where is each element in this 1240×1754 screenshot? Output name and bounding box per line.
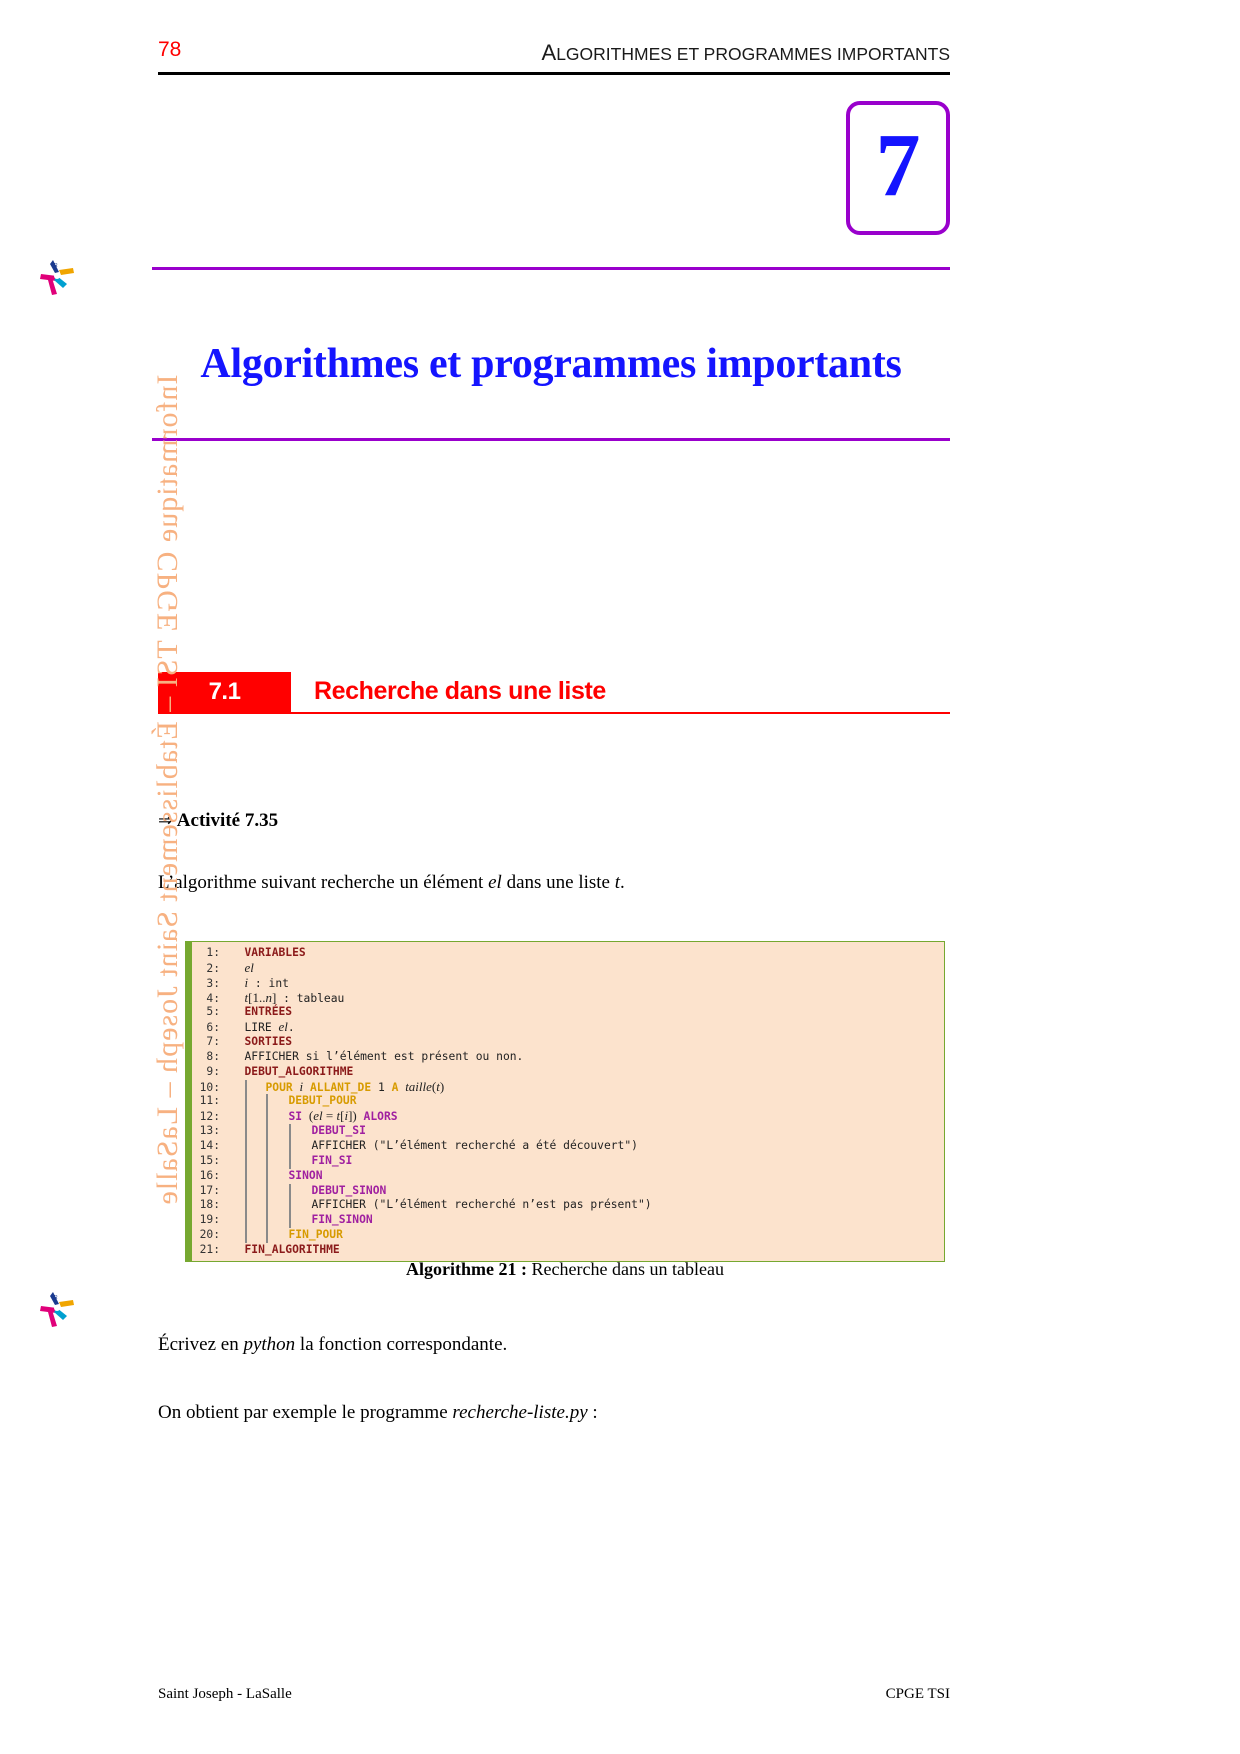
- obtient-text-2: :: [588, 1402, 598, 1423]
- code-line: 11:DEBUT_POUR: [186, 1094, 944, 1109]
- code-keyword: FIN_SI: [312, 1154, 353, 1167]
- code-text: el: [245, 960, 254, 975]
- page-header: 78 ALGORITHMES ET PROGRAMMES IMPORTANTS: [158, 38, 950, 74]
- code-line: 10:POUR i ALLANT_DE 1 A taille(t)POUR i …: [186, 1080, 944, 1095]
- running-header-rest: LGORITHMES ET PROGRAMMES IMPORTANTS: [556, 44, 950, 64]
- code-line: 16:SINON: [186, 1169, 944, 1184]
- code-line: 17:DEBUT_SINON: [186, 1184, 944, 1199]
- code-line: 5:ENTRÉES: [186, 1005, 944, 1020]
- obtient-filename: recherche-liste.py: [452, 1402, 587, 1423]
- algorithm-code-block: 1:VARIABLES 2:el 3:i : inti : int 4:t[1.…: [185, 941, 945, 1262]
- code-keyword: DEBUT_ALGORITHME: [245, 1065, 354, 1078]
- running-header-initial: A: [542, 40, 557, 65]
- chapter-number-box: 7: [846, 101, 950, 235]
- code-line: 18:AFFICHER ("L’élément recherché n’est …: [186, 1198, 944, 1213]
- code-line: 9:DEBUT_ALGORITHME: [186, 1065, 944, 1080]
- code-line: 21:FIN_ALGORITHME: [186, 1243, 944, 1258]
- code-line: 8:AFFICHER si l’élément est présent ou n…: [186, 1050, 944, 1065]
- code-line: 2:el: [186, 961, 944, 976]
- page-number: 78: [158, 38, 181, 62]
- code-line: 6:LIRE el.LIRE el.: [186, 1020, 944, 1035]
- code-keyword: FIN_SINON: [312, 1213, 373, 1226]
- code-line: 14:AFFICHER ("L’élément recherché a été …: [186, 1139, 944, 1154]
- code-text: AFFICHER ("L’élément recherché a été déc…: [312, 1139, 638, 1152]
- footer-left-text: Saint Joseph - LaSalle: [158, 1686, 292, 1703]
- code-keyword: VARIABLES: [245, 946, 306, 959]
- running-header-title: ALGORITHMES ET PROGRAMMES IMPORTANTS: [542, 40, 950, 66]
- ecrivez-text-1: Écrivez en: [158, 1334, 243, 1355]
- code-keyword: ENTRÉES: [245, 1005, 293, 1018]
- code-line: 1:VARIABLES: [186, 946, 944, 961]
- code-keyword: SORTIES: [245, 1035, 293, 1048]
- header-rule: [158, 72, 950, 75]
- code-keyword: DEBUT_POUR: [289, 1094, 357, 1107]
- ecrivez-emphasis: python: [243, 1334, 295, 1355]
- lasalle-logo-icon: R: [33, 258, 79, 302]
- intro-text-2: dans une liste: [502, 872, 615, 893]
- section-rule: [158, 712, 950, 714]
- code-line: 7:SORTIES: [186, 1035, 944, 1050]
- code-keyword: SINON: [289, 1169, 323, 1182]
- code-line: 15:FIN_SI: [186, 1154, 944, 1169]
- code-line: 12:SI (el = t[i]) ALORSSI (el = t[i]) AL…: [186, 1109, 944, 1124]
- obtient-text-1: On obtient par exemple le programme: [158, 1402, 452, 1423]
- algorithm-caption-label: Algorithme 21 :: [406, 1259, 527, 1279]
- chapter-rule-bottom: [152, 438, 950, 441]
- code-text: AFFICHER ("L’élément recherché n’est pas…: [312, 1198, 652, 1211]
- algorithm-caption-text: Recherche dans un tableau: [527, 1259, 724, 1279]
- code-keyword: DEBUT_SINON: [312, 1184, 387, 1197]
- section-title: Recherche dans une liste: [314, 677, 606, 706]
- sidebar-institution-text: Informatique CPGE TSI – Établissement Sa…: [138, 280, 198, 1300]
- intro-paragraph: L’algorithme suivant recherche un élémen…: [158, 872, 625, 894]
- code-line: 13:DEBUT_SI: [186, 1124, 944, 1139]
- intro-text-3: .: [620, 872, 625, 893]
- chapter-title: Algorithmes et programmes importants: [152, 340, 950, 388]
- code-line: 20:FIN_POUR: [186, 1228, 944, 1243]
- code-keyword: FIN_ALGORITHME: [245, 1243, 340, 1256]
- footer-right-text: CPGE TSI: [886, 1686, 950, 1703]
- code-line: 4:t[1..n] : tableaut[1..n] : tableau: [186, 991, 944, 1006]
- chapter-rule-top: [152, 267, 950, 270]
- paragraph-ecrivez: Écrivez en python la fonction correspond…: [158, 1334, 507, 1356]
- svg-text:R: R: [54, 1295, 58, 1301]
- svg-text:R: R: [54, 263, 58, 269]
- intro-text-1: L’algorithme suivant recherche un élémen…: [158, 872, 488, 893]
- intro-var-el: el: [488, 872, 502, 893]
- paragraph-obtient: On obtient par exemple le programme rech…: [158, 1402, 598, 1424]
- code-line: 3:i : inti : int: [186, 976, 944, 991]
- lasalle-logo-icon: R: [33, 1290, 79, 1334]
- code-line: 19:FIN_SINON: [186, 1213, 944, 1228]
- ecrivez-text-2: la fonction correspondante.: [295, 1334, 507, 1355]
- algorithm-caption: Algorithme 21 : Recherche dans un tablea…: [185, 1259, 945, 1280]
- code-keyword: DEBUT_SI: [312, 1124, 366, 1137]
- code-keyword: FIN_POUR: [289, 1228, 343, 1241]
- code-text: AFFICHER si l’élément est présent ou non…: [245, 1050, 524, 1063]
- chapter-number: 7: [850, 121, 946, 211]
